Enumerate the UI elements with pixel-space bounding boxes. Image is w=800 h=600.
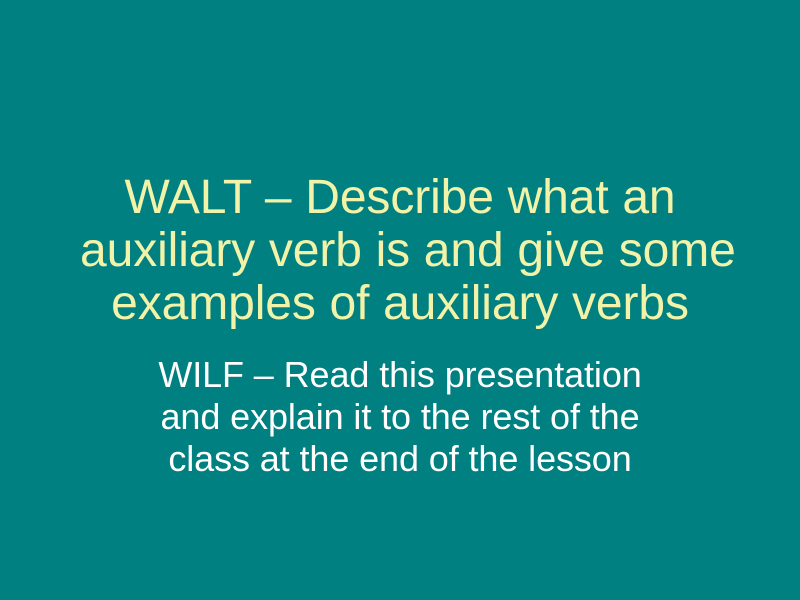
slide-subtitle-line-3: class at the end of the lesson xyxy=(140,438,660,480)
slide-title-line-2: auxiliary verb is and give some xyxy=(80,224,720,277)
slide-subtitle-line-2: and explain it to the rest of the xyxy=(140,396,660,438)
slide-subtitle: WILF – Read this presentation and explai… xyxy=(140,354,660,480)
presentation-slide: WALT – Describe what an auxiliary verb i… xyxy=(0,0,800,600)
slide-title-line-3: examples of auxiliary verbs xyxy=(80,277,720,330)
slide-subtitle-line-1: WILF – Read this presentation xyxy=(140,354,660,396)
slide-title-line-1: WALT – Describe what an xyxy=(80,171,720,224)
slide-title: WALT – Describe what an auxiliary verb i… xyxy=(80,171,720,330)
slide-content-block: WALT – Describe what an auxiliary verb i… xyxy=(0,0,800,600)
